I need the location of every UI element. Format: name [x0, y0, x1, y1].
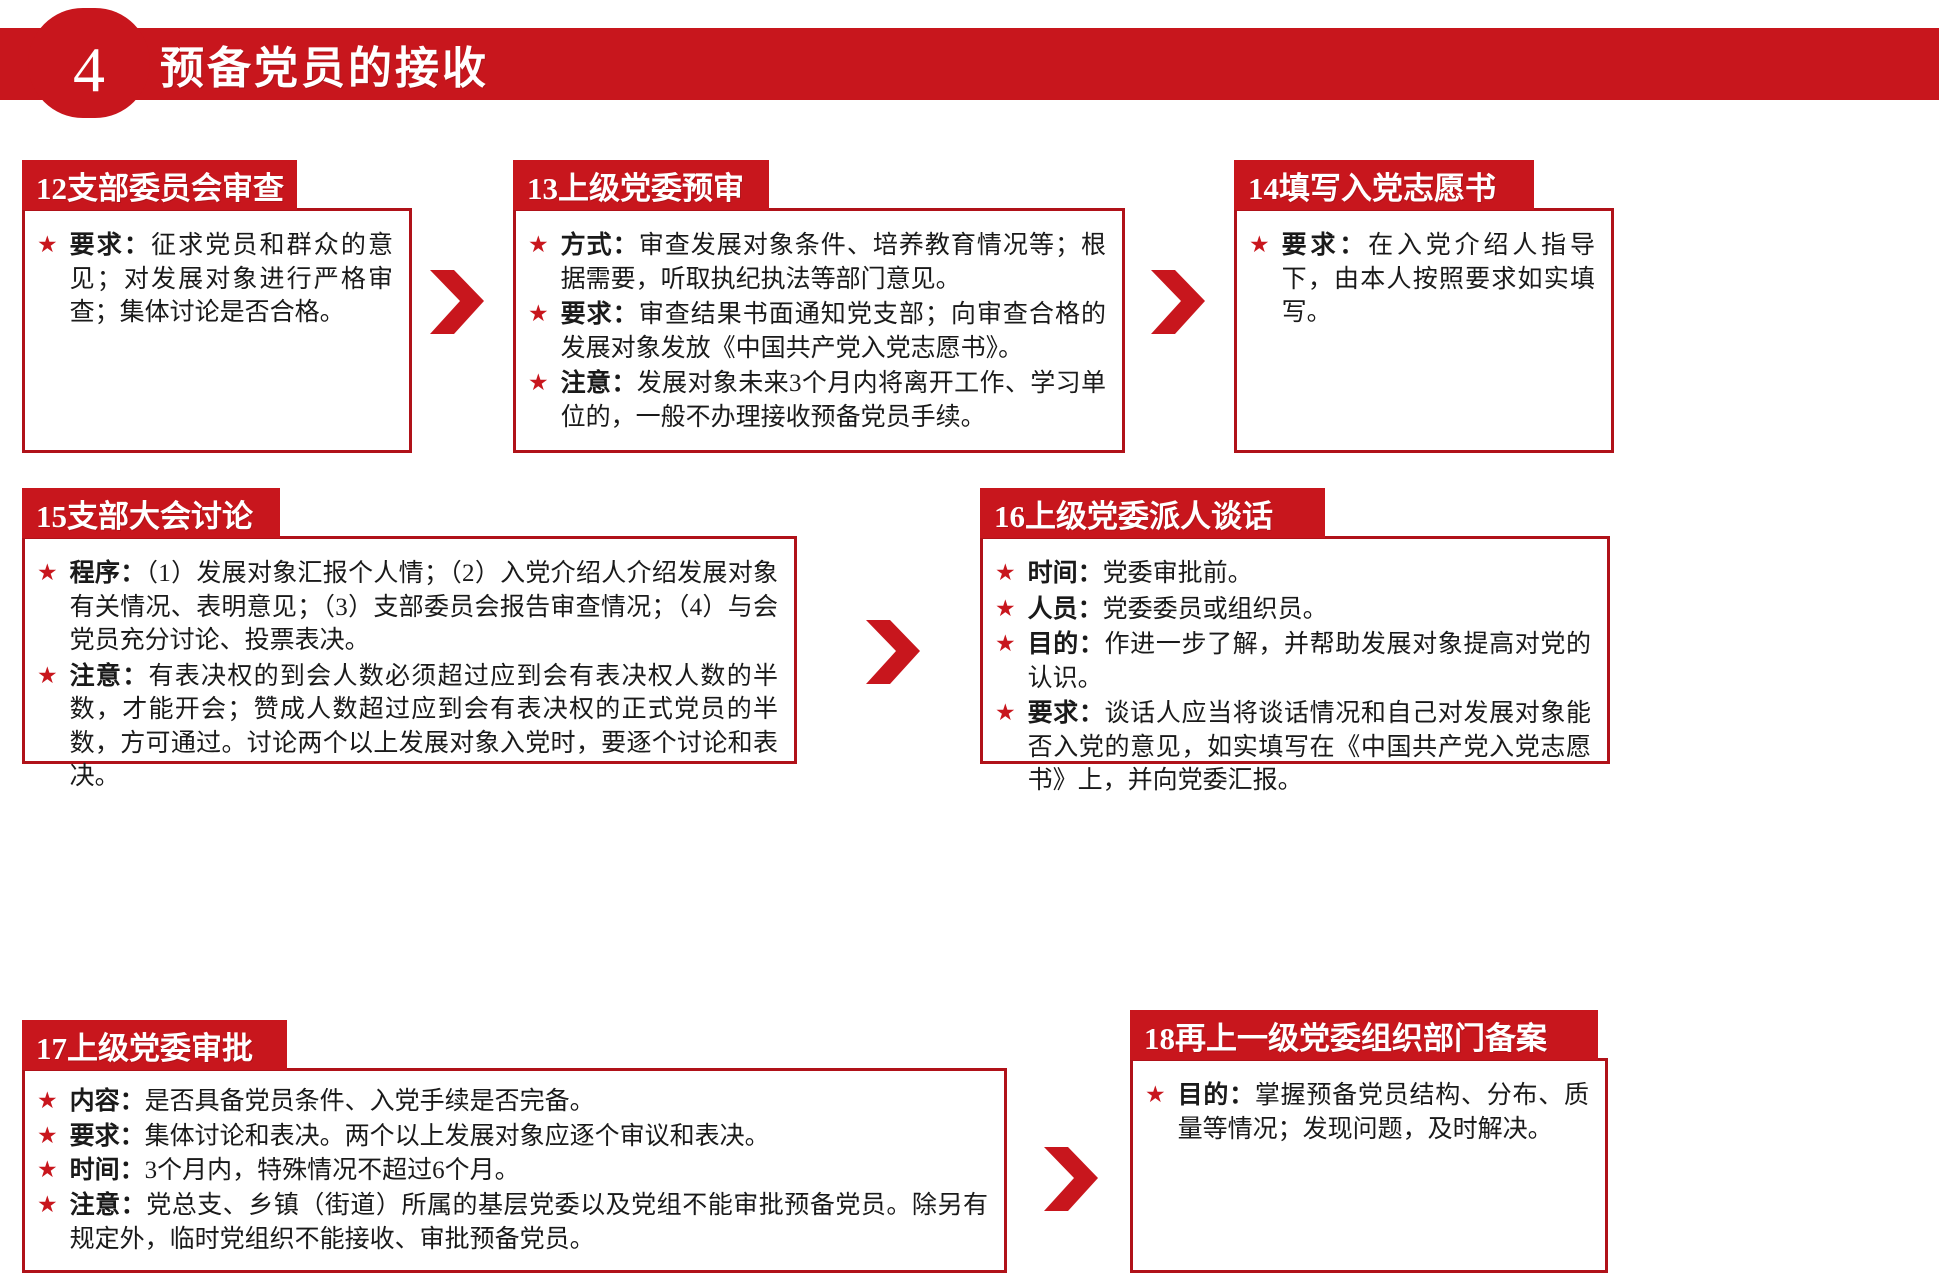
bullet-item: ★ 注意：党总支、乡镇（街道）所属的基层党委以及党组不能审批预备党员。除另有规定… — [37, 1189, 988, 1258]
card-16-title: 16上级党委派人谈话 — [980, 488, 1325, 538]
bullet-label: 目的： — [1028, 631, 1105, 658]
card-18-bullets: ★ 目的：掌握预备党员结构、分布、质量等情况；发现问题，及时解决。 — [1145, 1079, 1589, 1146]
arrow-15-to-16 — [862, 618, 924, 688]
bullet-text: 目的：掌握预备党员结构、分布、质量等情况；发现问题，及时解决。 — [1178, 1079, 1589, 1146]
star-icon: ★ — [37, 558, 58, 588]
star-icon: ★ — [37, 1121, 58, 1151]
bullet-content: 发展对象未来3个月内将离开工作、学习单位的，一般不办理接收预备党员手续。 — [561, 370, 1106, 431]
bullet-label: 人员： — [1028, 596, 1103, 623]
card-15-bullets: ★ 程序：（1）发展对象汇报个人情；（2）入党介绍人介绍发展对象有关情况、表明意… — [37, 557, 778, 794]
bullet-content: 有表决权的到会人数必须超过应到会有表决权人数的半数，才能开会；赞成人数超过应到会… — [70, 663, 778, 791]
card-13-body: ★ 方式：审查发展对象条件、培养教育情况等；根据需要，听取执纪执法等部门意见。 … — [513, 208, 1125, 453]
card-14-bullets: ★ 要求：在入党介绍人指导下，由本人按照要求如实填写。 — [1249, 229, 1595, 330]
bullet-item: ★ 人员：党委委员或组织员。 — [995, 593, 1591, 627]
bullet-label: 目的： — [1178, 1082, 1255, 1109]
card-14-title: 14填写入党志愿书 — [1234, 160, 1534, 210]
card-18-body: ★ 目的：掌握预备党员结构、分布、质量等情况；发现问题，及时解决。 — [1130, 1058, 1608, 1273]
bullet-item: ★ 目的：掌握预备党员结构、分布、质量等情况；发现问题，及时解决。 — [1145, 1079, 1589, 1146]
bullet-item: ★ 内容：是否具备党员条件、入党手续是否完备。 — [37, 1085, 988, 1120]
bullet-label: 内容： — [70, 1088, 145, 1115]
bullet-label: 要求： — [70, 1123, 145, 1150]
bullet-text: 方式：审查发展对象条件、培养教育情况等；根据需要，听取执纪执法等部门意见。 — [561, 229, 1106, 296]
bullet-item: ★ 时间：3个月内，特殊情况不超过6个月。 — [37, 1154, 988, 1189]
header-number: 4 — [28, 8, 150, 118]
arrow-12-to-13 — [426, 268, 488, 338]
bullet-item: ★ 方式：审查发展对象条件、培养教育情况等；根据需要，听取执纪执法等部门意见。 — [528, 229, 1106, 296]
card-12-title: 12支部委员会审查 — [22, 160, 297, 210]
bullet-text: 要求：谈话人应当将谈话情况和自己对发展对象能否入党的意见，如实填写在《中国共产党… — [1028, 697, 1591, 798]
bullet-item: ★ 注意：发展对象未来3个月内将离开工作、学习单位的，一般不办理接收预备党员手续… — [528, 367, 1106, 434]
bullet-label: 注意： — [70, 1192, 147, 1219]
bullet-item: ★ 要求：在入党介绍人指导下，由本人按照要求如实填写。 — [1249, 229, 1595, 330]
card-12-body: ★ 要求：征求党员和群众的意见；对发展对象进行严格审查；集体讨论是否合格。 — [22, 208, 412, 453]
card-14-body: ★ 要求：在入党介绍人指导下，由本人按照要求如实填写。 — [1234, 208, 1614, 453]
bullet-content: 党总支、乡镇（街道）所属的基层党委以及党组不能审批预备党员。除另有规定外，临时党… — [70, 1192, 988, 1254]
star-icon: ★ — [37, 1155, 58, 1185]
card-17-body: ★ 内容：是否具备党员条件、入党手续是否完备。 ★ 要求：集体讨论和表决。两个以… — [22, 1068, 1007, 1273]
bullet-text: 注意：发展对象未来3个月内将离开工作、学习单位的，一般不办理接收预备党员手续。 — [561, 367, 1106, 434]
chevron-right-icon — [862, 618, 924, 688]
bullet-content: 党委委员或组织员。 — [1103, 596, 1328, 623]
bullet-text: 人员：党委委员或组织员。 — [1028, 593, 1328, 627]
bullet-text: 时间：党委审批前。 — [1028, 557, 1253, 591]
card-15-title: 15支部大会讨论 — [22, 488, 280, 538]
bullet-label: 注意： — [70, 663, 149, 690]
bullet-text: 内容：是否具备党员条件、入党手续是否完备。 — [70, 1085, 595, 1120]
chevron-right-icon — [426, 268, 488, 338]
star-icon: ★ — [995, 698, 1016, 728]
star-icon: ★ — [1249, 230, 1270, 260]
bullet-text: 要求：征求党员和群众的意见；对发展对象进行严格审查；集体讨论是否合格。 — [70, 229, 393, 330]
card-17-title: 17上级党委审批 — [22, 1020, 287, 1070]
bullet-label: 注意： — [561, 370, 637, 397]
bullet-content: 党委审批前。 — [1103, 560, 1253, 587]
bullet-label: 程序： — [70, 560, 146, 587]
card-18-title: 18再上一级党委组织部门备案 — [1130, 1010, 1598, 1060]
arrow-13-to-14 — [1147, 268, 1209, 338]
bullet-content: 作进一步了解，并帮助发展对象提高对党的认识。 — [1028, 631, 1591, 692]
bullet-text: 要求：集体讨论和表决。两个以上发展对象应逐个审议和表决。 — [70, 1120, 770, 1155]
star-icon: ★ — [37, 1086, 58, 1116]
card-17-bullets: ★ 内容：是否具备党员条件、入党手续是否完备。 ★ 要求：集体讨论和表决。两个以… — [37, 1085, 988, 1258]
bullet-item: ★ 时间：党委审批前。 — [995, 557, 1591, 591]
bullet-label: 时间： — [1028, 560, 1103, 587]
page-title: 预备党员的接收 — [160, 28, 489, 100]
arrow-17-to-18 — [1040, 1145, 1102, 1215]
bullet-text: 要求：审查结果书面通知党支部；向审查合格的发展对象发放《中国共产党入党志愿书》。 — [561, 298, 1106, 365]
card-16-bullets: ★ 时间：党委审批前。 ★ 人员：党委委员或组织员。 ★ 目的：作进一步了解，并… — [995, 557, 1591, 798]
bullet-content: 是否具备党员条件、入党手续是否完备。 — [145, 1088, 595, 1115]
bullet-text: 程序：（1）发展对象汇报个人情；（2）入党介绍人介绍发展对象有关情况、表明意见；… — [70, 557, 778, 658]
bullet-label: 要求： — [1282, 232, 1369, 259]
chevron-right-icon — [1147, 268, 1209, 338]
card-12-bullets: ★ 要求：征求党员和群众的意见；对发展对象进行严格审查；集体讨论是否合格。 — [37, 229, 393, 330]
star-icon: ★ — [995, 594, 1016, 624]
star-icon: ★ — [995, 629, 1016, 659]
chevron-right-icon — [1040, 1145, 1102, 1215]
star-icon: ★ — [528, 230, 549, 260]
star-icon: ★ — [528, 368, 549, 398]
bullet-label: 要求： — [70, 232, 151, 259]
bullet-content: 集体讨论和表决。两个以上发展对象应逐个审议和表决。 — [145, 1123, 770, 1150]
card-16-body: ★ 时间：党委审批前。 ★ 人员：党委委员或组织员。 ★ 目的：作进一步了解，并… — [980, 536, 1610, 764]
bullet-item: ★ 要求：集体讨论和表决。两个以上发展对象应逐个审议和表决。 — [37, 1120, 988, 1155]
bullet-item: ★ 要求：征求党员和群众的意见；对发展对象进行严格审查；集体讨论是否合格。 — [37, 229, 393, 330]
star-icon: ★ — [37, 230, 58, 260]
bullet-item: ★ 要求：谈话人应当将谈话情况和自己对发展对象能否入党的意见，如实填写在《中国共… — [995, 697, 1591, 798]
bullet-content: 3个月内，特殊情况不超过6个月。 — [145, 1157, 520, 1184]
bullet-content: 谈话人应当将谈话情况和自己对发展对象能否入党的意见，如实填写在《中国共产党入党志… — [1028, 700, 1591, 794]
bullet-text: 目的：作进一步了解，并帮助发展对象提高对党的认识。 — [1028, 628, 1591, 695]
star-icon: ★ — [37, 1190, 58, 1220]
star-icon: ★ — [995, 558, 1016, 588]
card-15-body: ★ 程序：（1）发展对象汇报个人情；（2）入党介绍人介绍发展对象有关情况、表明意… — [22, 536, 797, 764]
bullet-text: 要求：在入党介绍人指导下，由本人按照要求如实填写。 — [1282, 229, 1595, 330]
bullet-text: 注意：党总支、乡镇（街道）所属的基层党委以及党组不能审批预备党员。除另有规定外，… — [70, 1189, 988, 1258]
bullet-label: 时间： — [70, 1157, 145, 1184]
bullet-item: ★ 注意：有表决权的到会人数必须超过应到会有表决权人数的半数，才能开会；赞成人数… — [37, 660, 778, 794]
bullet-item: ★ 目的：作进一步了解，并帮助发展对象提高对党的认识。 — [995, 628, 1591, 695]
star-icon: ★ — [37, 661, 58, 691]
card-13-bullets: ★ 方式：审查发展对象条件、培养教育情况等；根据需要，听取执纪执法等部门意见。 … — [528, 229, 1106, 434]
bullet-label: 方式： — [561, 232, 639, 259]
bullet-content: 审查发展对象条件、培养教育情况等；根据需要，听取执纪执法等部门意见。 — [561, 232, 1106, 293]
star-icon: ★ — [528, 299, 549, 329]
bullet-text: 注意：有表决权的到会人数必须超过应到会有表决权人数的半数，才能开会；赞成人数超过… — [70, 660, 778, 794]
card-13-title: 13上级党委预审 — [513, 160, 769, 210]
bullet-content: （1）发展对象汇报个人情；（2）入党介绍人介绍发展对象有关情况、表明意见；（3）… — [70, 560, 778, 654]
bullet-text: 时间：3个月内，特殊情况不超过6个月。 — [70, 1154, 520, 1189]
star-icon: ★ — [1145, 1080, 1166, 1110]
bullet-item: ★ 程序：（1）发展对象汇报个人情；（2）入党介绍人介绍发展对象有关情况、表明意… — [37, 557, 778, 658]
bullet-label: 要求： — [1028, 700, 1105, 727]
bullet-content: 审查结果书面通知党支部；向审查合格的发展对象发放《中国共产党入党志愿书》。 — [561, 301, 1106, 362]
bullet-item: ★ 要求：审查结果书面通知党支部；向审查合格的发展对象发放《中国共产党入党志愿书… — [528, 298, 1106, 365]
bullet-label: 要求： — [561, 301, 639, 328]
